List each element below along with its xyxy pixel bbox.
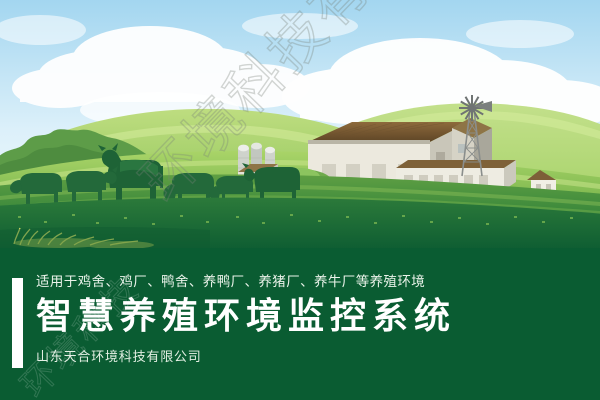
green-text-banner: 适用于鸡舍、鸡厂、鸭舍、养鸭厂、养猪厂、养牛厂等养殖环境 智慧养殖环境监控系统 …: [0, 248, 600, 400]
poster-banner: 环境科技有限公司 环境科技 适用于鸡舍、鸡厂、鸭舍、养鸭厂、养猪厂、养牛厂等养殖…: [0, 0, 600, 400]
tagline-text: 适用于鸡舍、鸡厂、鸭舍、养鸭厂、养猪厂、养牛厂等养殖环境: [36, 274, 456, 290]
company-name: 山东天合环境科技有限公司: [36, 346, 456, 365]
scene-svg: [0, 0, 600, 252]
banner-text-block: 适用于鸡舍、鸡厂、鸭舍、养鸭厂、养猪厂、养牛厂等养殖环境 智慧养殖环境监控系统 …: [36, 274, 456, 365]
page-title: 智慧养殖环境监控系统: [36, 296, 456, 336]
accent-bar: [12, 278, 23, 368]
farm-scene-illustration: [0, 0, 600, 252]
